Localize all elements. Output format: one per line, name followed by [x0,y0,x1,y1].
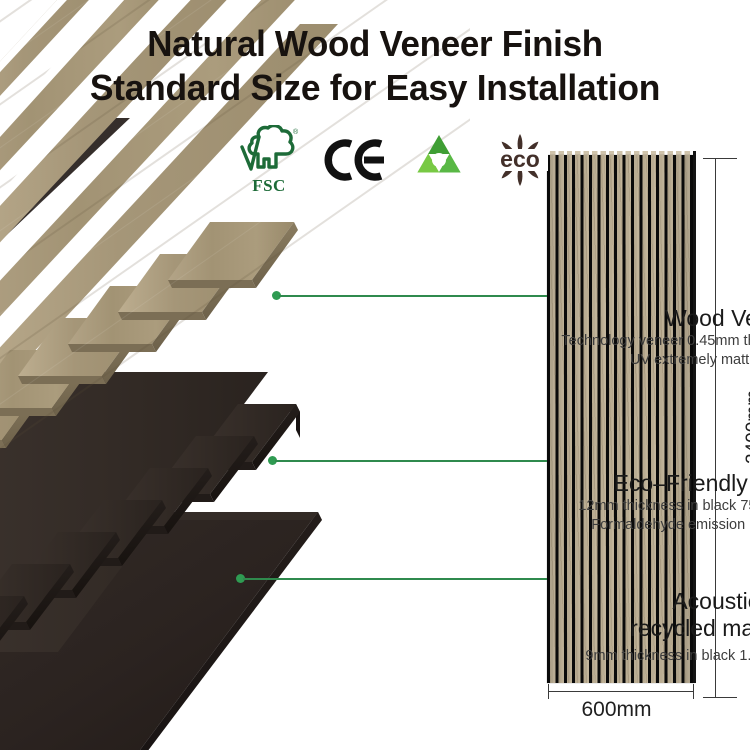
svg-text:®: ® [293,128,299,136]
callout-heading-line-1: Acoustic Felt [216,588,750,615]
callout-heading: Eco–Friendly MDF [248,470,750,497]
callout-leader-line [279,295,547,297]
recycling-icon [410,132,468,188]
fsc-icon: ® FSC [238,125,300,195]
eco-icon: eco [492,130,548,190]
callout-heading-line-2: recycled material [216,615,750,642]
callout-heading: Wood Veneer [252,305,750,332]
callout-subline-1: 9mm thickness in black 1.35kg/m2 [216,642,750,666]
dimension-width-label: 600mm [540,698,693,722]
callout-subline-2: Formaldehyde emission E0 class [248,516,750,535]
fsc-label: FSC [238,176,300,196]
ce-icon [324,135,386,185]
certification-badge-row: ® FSC [238,124,548,196]
callout-subline-1: Technology veneer 0.45mm thickness [252,332,750,351]
dimension-tick-right [693,684,694,699]
callout-leader-line [275,460,547,462]
callout-text-block: Acoustic Felt recycled material 9mm thic… [216,588,750,666]
callout-subline-1: 12mm thickness in black 750kg/m3 [248,497,750,516]
dimension-tick-left [548,684,549,699]
product-infographic: Natural Wood Veneer Finish Standard Size… [0,0,750,750]
dimension-line-horizontal [548,691,694,692]
dimension-tick-bottom [703,697,737,698]
dimension-width: 600mm [540,684,702,742]
dimension-tick-top [703,158,737,159]
callout-subline-2: UV extremely matt painting [252,351,750,370]
callout-subline-1-text: 9mm thickness in black 1.35kg/m [585,648,750,664]
callout-leader-line [243,578,547,580]
eco-label: eco [500,146,540,172]
dimension-height-label: 2400mm [743,390,750,464]
callout-text-block: Eco–Friendly MDF 12mm thickness in black… [248,470,750,535]
callout-text-block: Wood Veneer Technology veneer 0.45mm thi… [252,305,750,370]
